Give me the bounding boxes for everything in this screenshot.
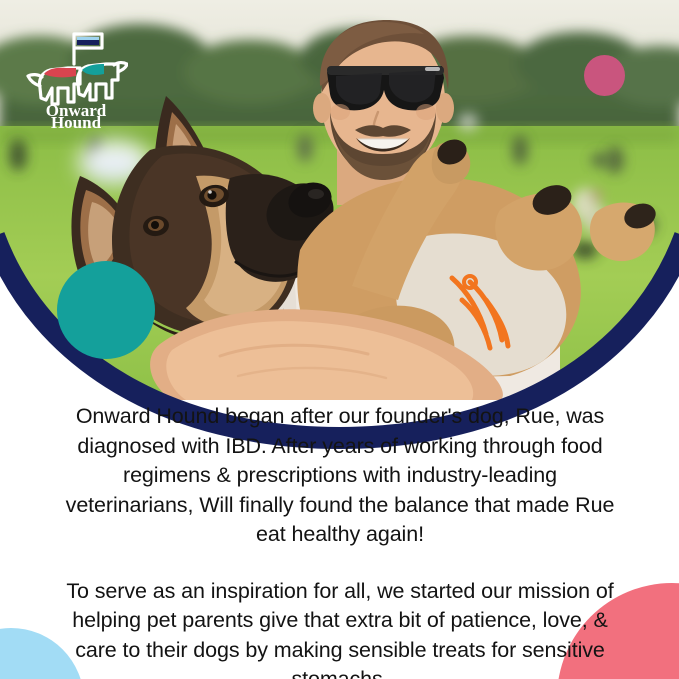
decor-circle-teal [57, 261, 155, 359]
story-paragraph-2: To serve as an inspiration for all, we s… [62, 577, 618, 679]
story-paragraph-1: Onward Hound began after our founder's d… [62, 402, 618, 550]
onward-hound-logo[interactable]: Onward Hound [24, 28, 128, 128]
decor-circle-pink [584, 55, 625, 96]
onward-hound-logo-mark: Onward Hound [24, 28, 128, 128]
logo-word-hound: Hound [51, 113, 102, 128]
brand-story-copy: Onward Hound began after our founder's d… [62, 402, 618, 679]
brand-story-card: Onward Hound Onward Hound began after ou… [0, 0, 679, 679]
